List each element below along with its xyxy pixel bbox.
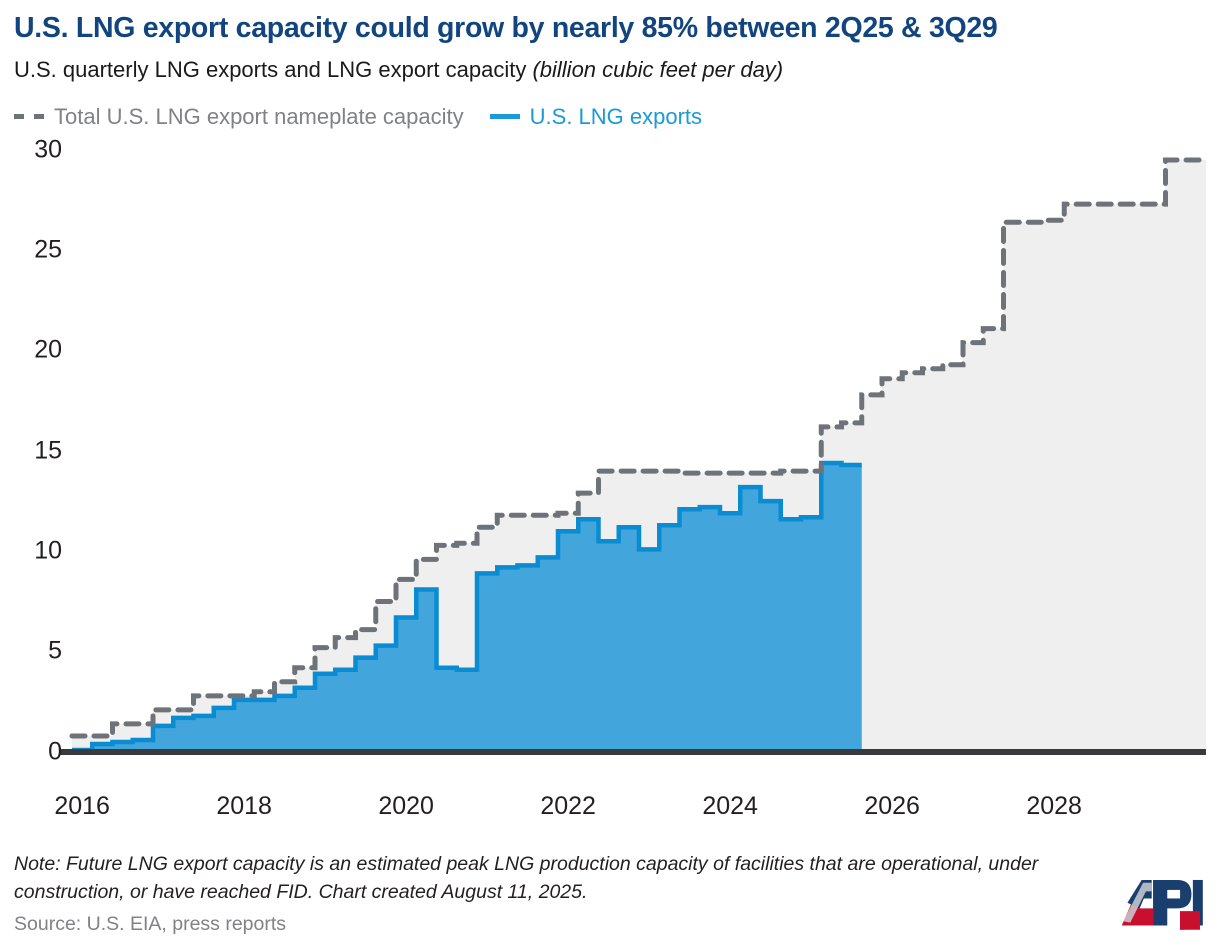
x-tick-label: 2022 <box>540 792 596 821</box>
chart-note: Note: Future LNG export capacity is an e… <box>14 850 1074 907</box>
y-tick-label: 5 <box>48 637 62 666</box>
y-tick-label: 10 <box>34 536 62 565</box>
y-tick-label: 25 <box>34 235 62 264</box>
solid-line-icon <box>490 114 520 119</box>
chart-subtitle: U.S. quarterly LNG exports and LNG expor… <box>14 43 1206 81</box>
chart-canvas <box>14 140 1206 790</box>
x-tick-label: 2024 <box>702 792 758 821</box>
api-logo <box>1120 870 1206 934</box>
x-tick-label: 2018 <box>216 792 272 821</box>
subtitle-main: U.S. quarterly LNG exports and LNG expor… <box>14 57 532 82</box>
plot-area: 051015202530 <box>14 140 1206 790</box>
dashed-line-icon <box>14 114 44 119</box>
x-tick-label: 2016 <box>54 792 110 821</box>
x-tick-label: 2020 <box>378 792 434 821</box>
legend-label-capacity: Total U.S. LNG export nameplate capacity <box>54 106 464 128</box>
legend-item-capacity[interactable]: Total U.S. LNG export nameplate capacity <box>14 106 464 128</box>
y-tick-label: 20 <box>34 336 62 365</box>
x-tick-label: 2026 <box>864 792 920 821</box>
chart-legend: Total U.S. LNG export nameplate capacity… <box>14 81 1206 132</box>
y-tick-label: 30 <box>34 135 62 164</box>
y-tick-label: 0 <box>48 737 62 766</box>
legend-item-exports[interactable]: U.S. LNG exports <box>490 106 702 128</box>
subtitle-units: (billion cubic feet per day) <box>532 57 783 82</box>
legend-label-exports: U.S. LNG exports <box>530 106 702 128</box>
y-tick-label: 15 <box>34 436 62 465</box>
chart-footer: Note: Future LNG export capacity is an e… <box>14 850 1114 936</box>
chart-page: U.S. LNG export capacity could grow by n… <box>0 0 1220 948</box>
y-axis-labels: 051015202530 <box>14 140 62 790</box>
page-title: U.S. LNG export capacity could grow by n… <box>14 0 1206 43</box>
x-tick-label: 2028 <box>1026 792 1082 821</box>
x-axis-labels: 2016201820202022202420262028 <box>14 790 1206 834</box>
chart-source: Source: U.S. EIA, press reports <box>14 907 1114 936</box>
